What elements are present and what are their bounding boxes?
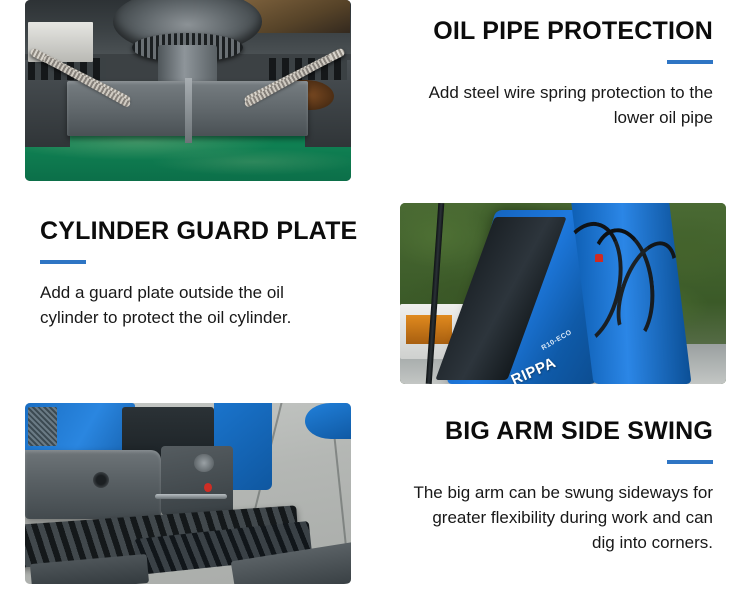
red-marker xyxy=(595,254,603,262)
side-swing-pin xyxy=(194,454,214,472)
text-cell-big-arm-side-swing: BIG ARM SIDE SWING The big arm can be sw… xyxy=(375,400,750,602)
cab-mesh-grille xyxy=(28,407,57,447)
photo-cell-oil-pipe-protection xyxy=(0,0,375,200)
text-cell-oil-pipe-protection: OIL PIPE PROTECTION Add steel wire sprin… xyxy=(375,0,750,200)
feature-row-big-arm-side-swing: BIG ARM SIDE SWING The big arm can be sw… xyxy=(0,400,750,602)
photo-cell-big-arm-side-swing xyxy=(0,400,375,602)
photo-cylinder-guard-plate: 挖掘机 可定制 RIPPA R10-ECO xyxy=(400,203,726,384)
feature-row-cylinder-guard-plate: 挖掘机 可定制 RIPPA R10-ECO CYLINDER GUARD PLA… xyxy=(0,200,750,400)
rear-counterweight xyxy=(25,450,162,519)
red-cap xyxy=(204,483,212,492)
feature-row-oil-pipe-protection: OIL PIPE PROTECTION Add steel wire sprin… xyxy=(0,0,750,200)
accent-bar xyxy=(40,260,86,264)
feature-title: BIG ARM SIDE SWING xyxy=(445,416,713,446)
photo-oil-pipe-protection xyxy=(25,0,351,181)
accent-bar xyxy=(667,460,713,464)
feature-panel-page: OIL PIPE PROTECTION Add steel wire sprin… xyxy=(0,0,750,602)
text-cell-cylinder-guard-plate: CYLINDER GUARD PLATE Add a guard plate o… xyxy=(0,200,375,400)
feature-title: CYLINDER GUARD PLATE xyxy=(40,216,357,246)
feature-description: The big arm can be swung sideways for gr… xyxy=(408,480,713,555)
feature-description: Add a guard plate outside the oil cylind… xyxy=(40,280,345,330)
feature-title: OIL PIPE PROTECTION xyxy=(433,16,713,46)
swing-cylinder-rod xyxy=(155,494,227,499)
photo-big-arm-side-swing xyxy=(25,403,351,584)
blue-bucket-edge xyxy=(305,403,351,439)
photo-cell-cylinder-guard-plate: 挖掘机 可定制 RIPPA R10-ECO xyxy=(375,200,750,400)
dozer-blade-seam xyxy=(185,78,192,143)
accent-bar xyxy=(667,60,713,64)
feature-description: Add steel wire spring protection to the … xyxy=(408,80,713,130)
